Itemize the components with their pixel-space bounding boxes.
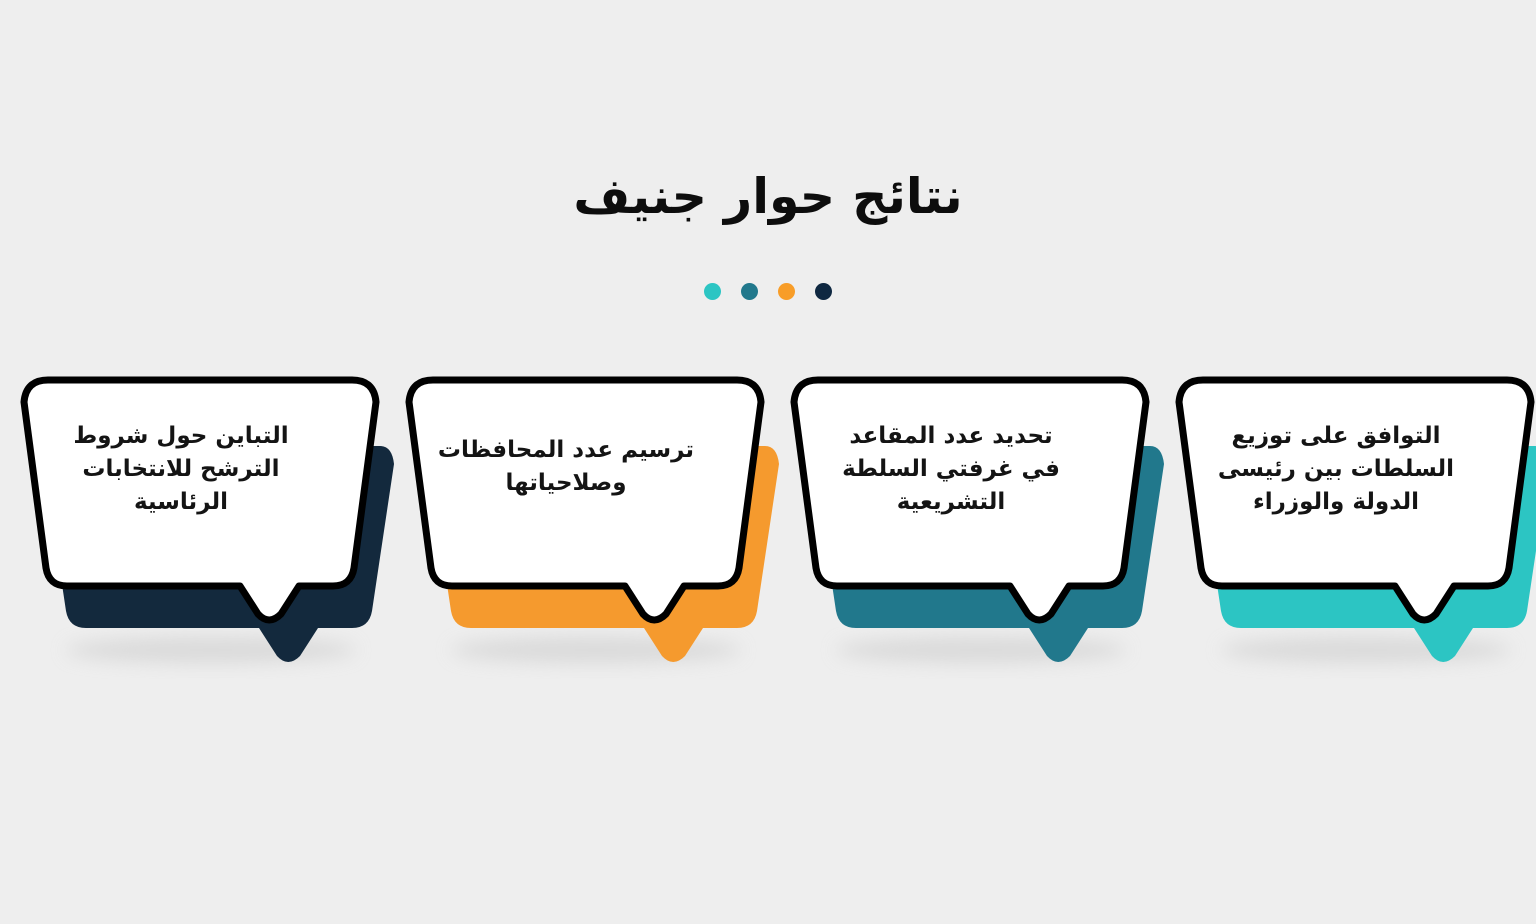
slide-root: نتائج حوار جنيف التباين حول شروط الترشح … [0, 0, 1536, 924]
speech-bubble-2-graphic [393, 372, 779, 662]
dot-indicator-row [0, 283, 1536, 300]
ground-shadow [66, 637, 356, 663]
speech-bubble-4-label: التوافق على توزيع السلطات بين رئيسى الدو… [1205, 420, 1467, 519]
ground-shadow [836, 637, 1126, 663]
speech-bubble-1[interactable]: التباين حول شروط الترشح للانتخابات الرئا… [8, 372, 394, 662]
ground-shadow [451, 637, 741, 663]
dot-turquoise-icon [704, 283, 721, 300]
speech-bubble-1-label: التباين حول شروط الترشح للانتخابات الرئا… [50, 420, 312, 519]
title-block: نتائج حوار جنيف [0, 170, 1536, 224]
page-title: نتائج حوار جنيف [0, 170, 1536, 224]
speech-bubble-2-body [409, 380, 761, 620]
speech-bubble-2[interactable]: ترسيم عدد المحافظات وصلاحياتها [393, 372, 779, 662]
dot-orange-icon [778, 283, 795, 300]
bubble-row: التباين حول شروط الترشح للانتخابات الرئا… [0, 372, 1536, 672]
dot-teal-icon [741, 283, 758, 300]
speech-bubble-3-label: تحديد عدد المقاعد في غرفتي السلطة التشري… [820, 420, 1082, 519]
speech-bubble-2-label: ترسيم عدد المحافظات وصلاحياتها [435, 434, 697, 500]
speech-bubble-3[interactable]: تحديد عدد المقاعد في غرفتي السلطة التشري… [778, 372, 1164, 662]
dot-navy-icon [815, 283, 832, 300]
ground-shadow [1221, 637, 1511, 663]
speech-bubble-4[interactable]: التوافق على توزيع السلطات بين رئيسى الدو… [1163, 372, 1536, 662]
